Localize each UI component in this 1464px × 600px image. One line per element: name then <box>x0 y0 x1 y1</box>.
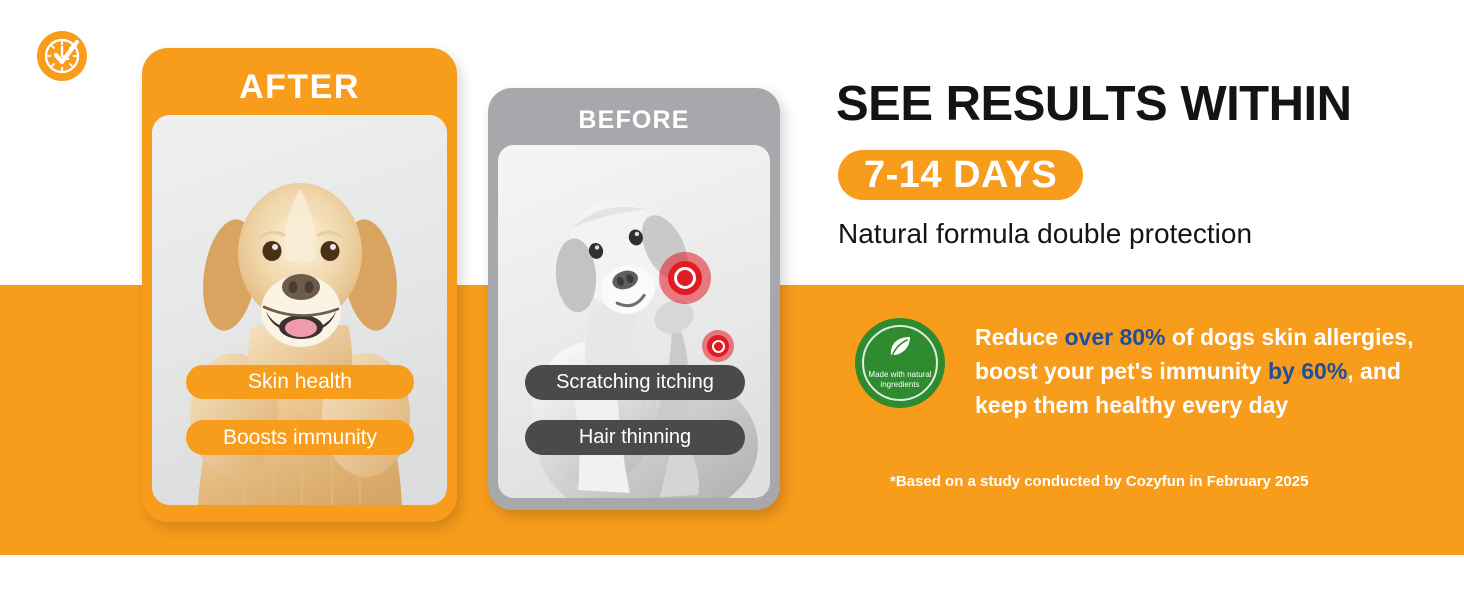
pill-scratching-itching: Scratching itching <box>525 365 745 400</box>
before-card-title: BEFORE <box>488 106 780 135</box>
badge-text-line2: ingredients <box>880 380 919 389</box>
clock-check-icon <box>36 30 88 82</box>
badge-text: Made with natural ingredients <box>863 370 937 390</box>
promo-banner: BEFORE <box>0 0 1464 600</box>
badge-inner-ring <box>862 325 938 401</box>
pill-skin-health: Skin health <box>186 365 414 399</box>
footnote: *Based on a study conducted by Cozyfun i… <box>890 473 1308 490</box>
pill-boosts-immunity: Boosts immunity <box>186 420 414 455</box>
claim-text: Reduce over 80% of dogs skin allergies, … <box>975 320 1450 422</box>
days-badge: 7-14 DAYS <box>838 150 1083 200</box>
irritation-marker-large <box>659 252 711 304</box>
claim-part1: Reduce <box>975 324 1064 350</box>
claim-highlight-60: by 60% <box>1268 358 1347 384</box>
days-badge-label: 7-14 DAYS <box>864 154 1057 197</box>
natural-ingredients-badge: Made with natural ingredients <box>855 318 945 408</box>
claim-highlight-80: over 80% <box>1064 324 1165 350</box>
subheadline: Natural formula double protection <box>838 218 1252 250</box>
pill-hair-thinning: Hair thinning <box>525 420 745 455</box>
badge-text-line1: Made with natural <box>868 370 931 379</box>
page-title: SEE RESULTS WITHIN <box>836 76 1352 132</box>
after-card-title: AFTER <box>142 68 457 107</box>
irritation-marker-small <box>702 330 734 362</box>
